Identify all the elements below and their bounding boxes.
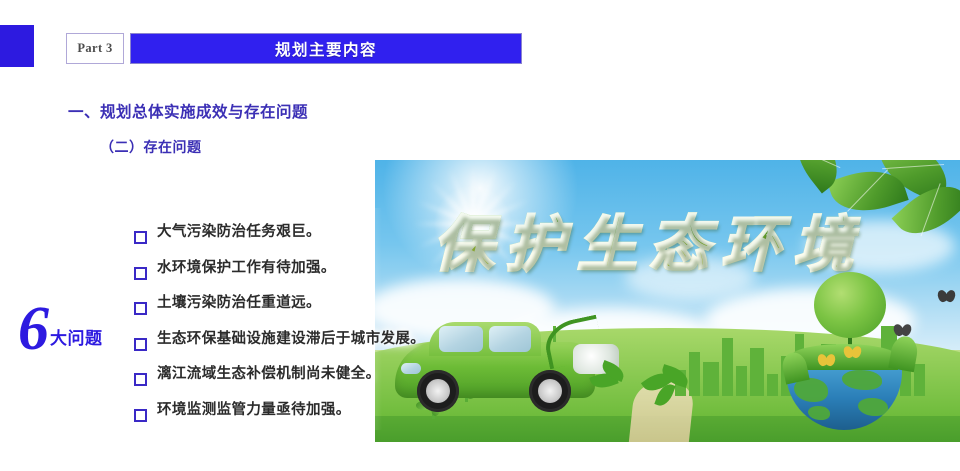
square-bullet-icon: [134, 302, 147, 315]
slide-canvas: Part 3 规划主要内容 一、规划总体实施成效与存在问题 （二）存在问题 保: [0, 0, 960, 471]
square-bullet-icon: [134, 409, 147, 422]
heading-level-2: （二）存在问题: [100, 137, 202, 157]
list-item-label: 漓江流域生态补偿机制尚未健全。: [157, 367, 381, 382]
issue-count-number: 6: [18, 305, 49, 353]
issue-count-callout: 6 大问题: [18, 305, 103, 353]
list-item: 大气污染防治任务艰巨。: [134, 225, 425, 244]
list-item-label: 环境监测监管力量亟待加强。: [157, 403, 351, 418]
list-item: 水环境保护工作有待加强。: [134, 261, 425, 280]
square-bullet-icon: [134, 267, 147, 280]
list-item: 环境监测监管力量亟待加强。: [134, 403, 425, 422]
list-item: 漓江流域生态补偿机制尚未健全。: [134, 367, 425, 386]
list-item-label: 生态环保基础设施建设滞后于城市发展。: [157, 332, 425, 347]
section-title-banner: 规划主要内容: [130, 33, 522, 64]
slide-header: Part 3 规划主要内容: [66, 33, 522, 64]
tree-crown: [814, 272, 886, 338]
list-item-label: 土壤污染防治任重道远。: [157, 296, 321, 311]
electric-car-icon: [395, 318, 600, 414]
list-item: 生态环保基础设施建设滞后于城市发展。: [134, 332, 425, 351]
square-bullet-icon: [134, 231, 147, 244]
eco-theme-photo: 保护生态环境: [375, 160, 960, 442]
heading-level-1: 一、规划总体实施成效与存在问题: [68, 100, 308, 122]
corner-accent-square: [0, 25, 34, 67]
square-bullet-icon: [134, 338, 147, 351]
photo-caption-calligraphy: 保护生态环境: [433, 196, 903, 283]
list-item: 土壤污染防治任重道远。: [134, 296, 425, 315]
issue-count-label: 大问题: [50, 324, 103, 353]
part-number-box: Part 3: [66, 33, 124, 64]
list-item-label: 水环境保护工作有待加强。: [157, 261, 336, 276]
list-item-label: 大气污染防治任务艰巨。: [157, 225, 321, 240]
square-bullet-icon: [134, 373, 147, 386]
problem-list: 大气污染防治任务艰巨。 水环境保护工作有待加强。 土壤污染防治任重道远。 生态环…: [134, 225, 425, 438]
